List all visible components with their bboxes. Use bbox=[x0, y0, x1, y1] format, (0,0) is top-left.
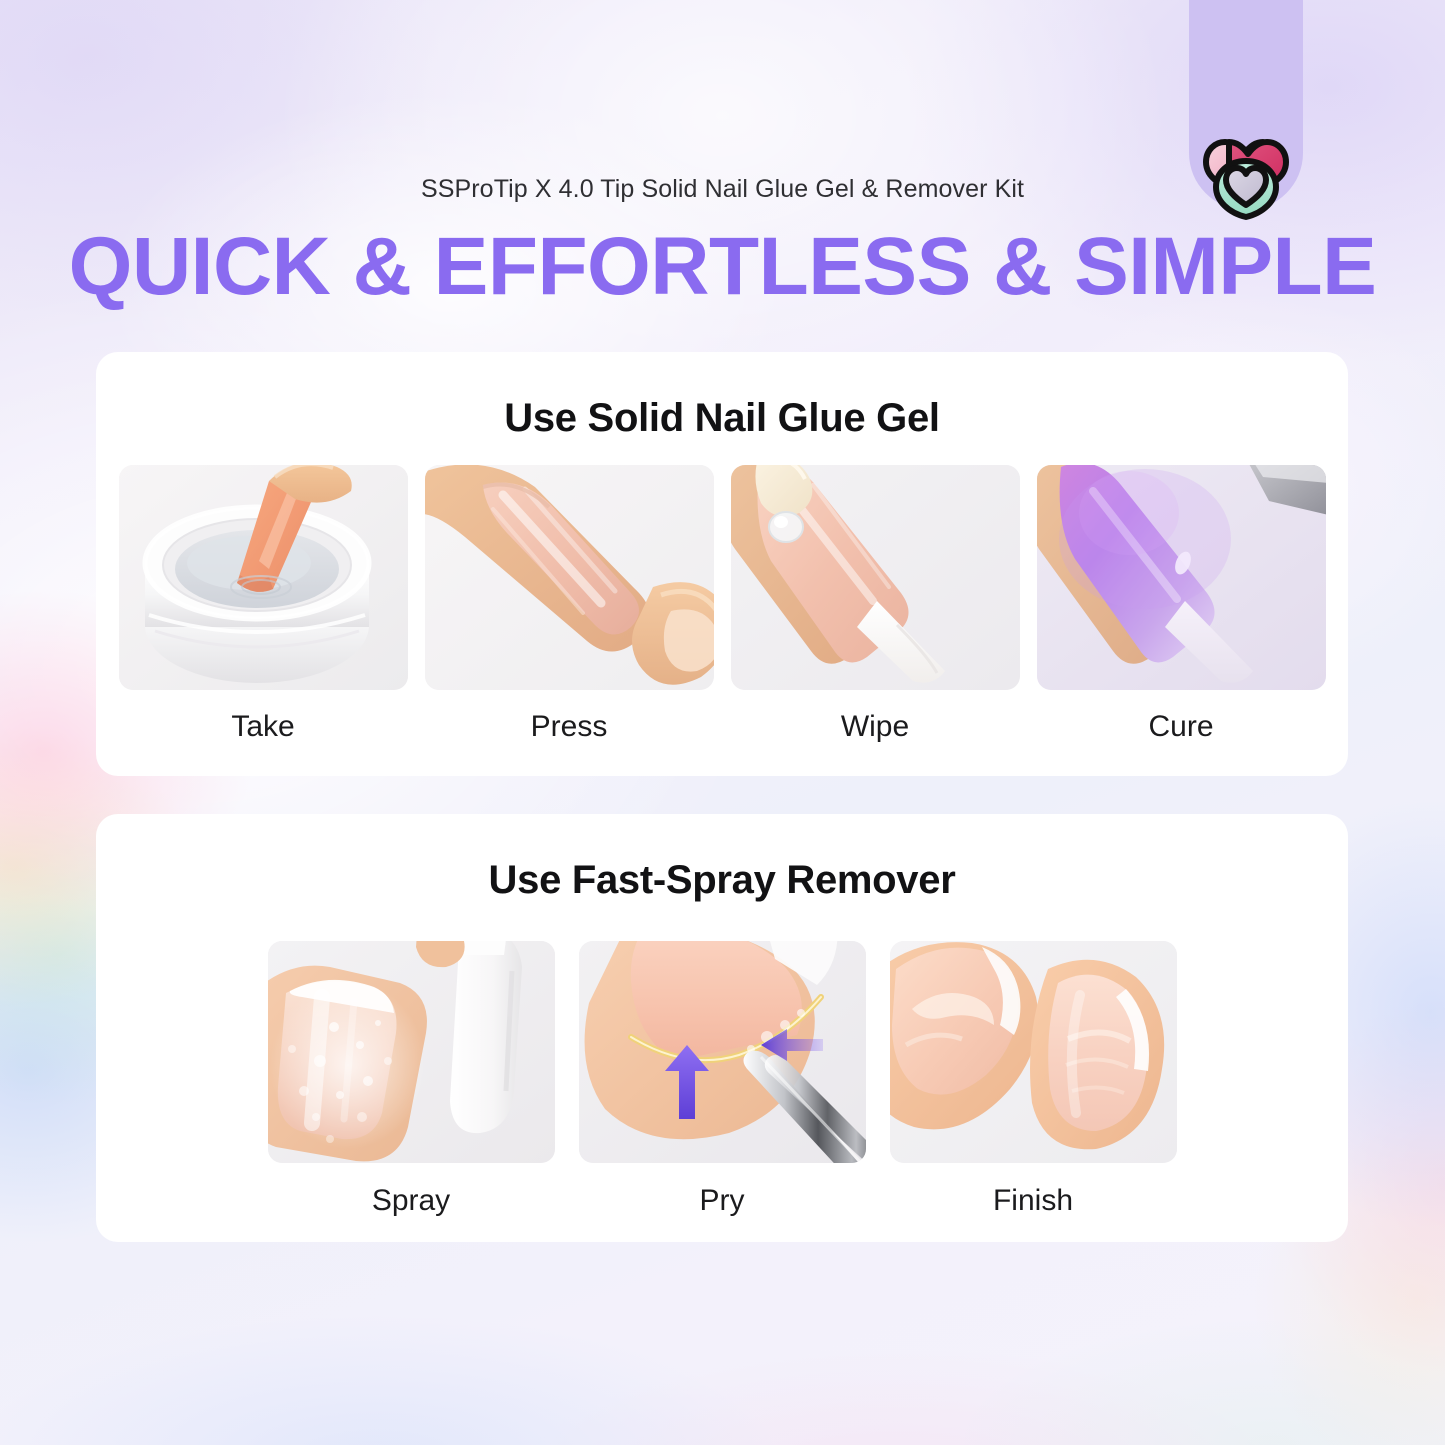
step-label: Spray bbox=[372, 1184, 450, 1218]
photo-nail-curing-under-uv-lamp bbox=[1037, 465, 1326, 690]
photo-wiping-nail-with-cotton-pad bbox=[731, 465, 1020, 690]
page-headline: QUICK & EFFORTLESS & SIMPLE bbox=[0, 218, 1445, 316]
section-title: Use Fast-Spray Remover bbox=[96, 858, 1348, 903]
step-label: Pry bbox=[700, 1184, 745, 1218]
photo-nail-tip-dipping-into-glue-gel-jar bbox=[119, 465, 408, 690]
step-row-remover: Spray bbox=[96, 941, 1348, 1218]
step-take: Take bbox=[119, 465, 408, 744]
step-pry: Pry bbox=[579, 941, 866, 1218]
step-label: Cure bbox=[1148, 710, 1213, 744]
photo-finished-bare-natural-nails bbox=[890, 941, 1177, 1163]
section-card-fast-spray-remover: Use Fast-Spray Remover bbox=[96, 814, 1348, 1242]
product-subtitle: SSProTip X 4.0 Tip Solid Nail Glue Gel &… bbox=[0, 175, 1445, 204]
step-label: Take bbox=[231, 710, 294, 744]
step-press: Press bbox=[425, 465, 714, 744]
photo-pressing-nail-tip-onto-natural-nail bbox=[425, 465, 714, 690]
step-finish: Finish bbox=[890, 941, 1177, 1218]
step-wipe: Wipe bbox=[731, 465, 1020, 744]
section-title: Use Solid Nail Glue Gel bbox=[96, 396, 1348, 441]
section-card-solid-nail-glue-gel: Use Solid Nail Glue Gel bbox=[96, 352, 1348, 776]
step-spray: Spray bbox=[268, 941, 555, 1218]
step-label: Press bbox=[531, 710, 608, 744]
photo-spraying-remover-onto-nail bbox=[268, 941, 555, 1163]
step-label: Wipe bbox=[841, 710, 909, 744]
step-row-glue: Take bbox=[96, 465, 1348, 744]
step-cure: Cure bbox=[1037, 465, 1326, 744]
photo-prying-tip-off-with-tweezers bbox=[579, 941, 866, 1163]
step-label: Finish bbox=[993, 1184, 1073, 1218]
